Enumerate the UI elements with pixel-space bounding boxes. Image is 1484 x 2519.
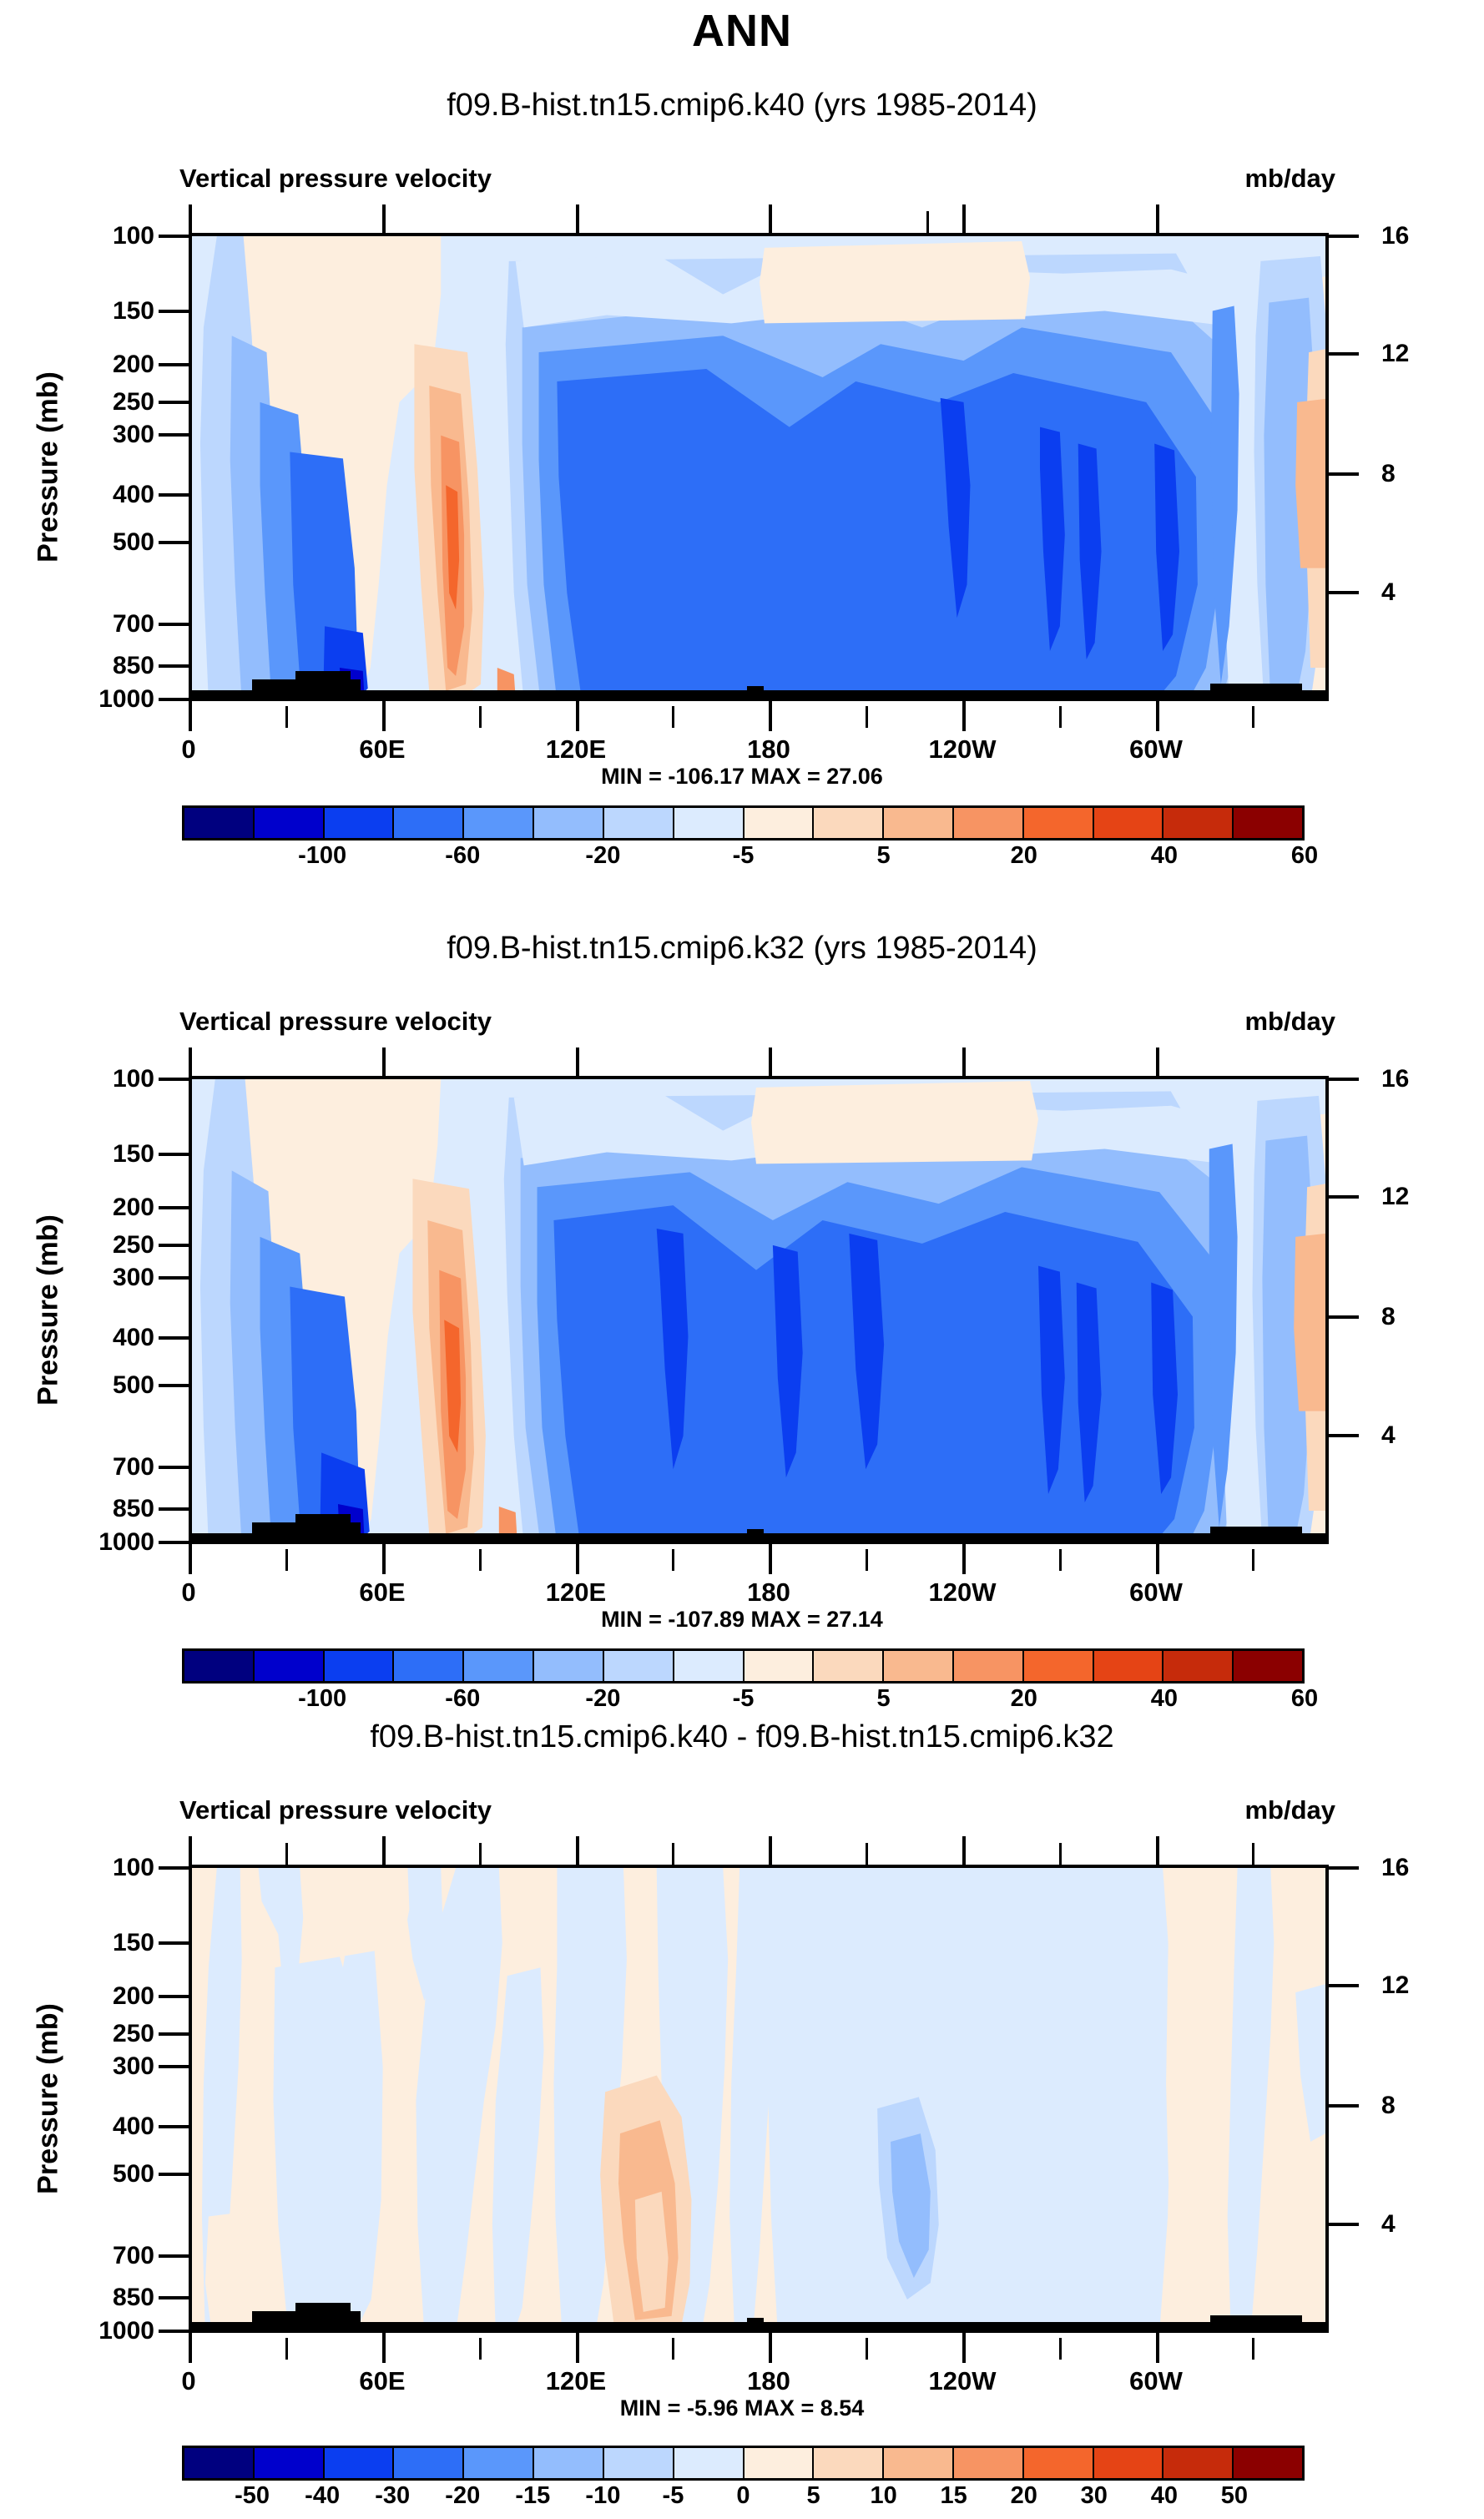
pressure-tick-label: 1000	[98, 685, 154, 714]
panel-1-colorbar-strip	[182, 805, 1305, 841]
height-tick-label: 8	[1381, 2092, 1396, 2120]
colorbar-cell	[674, 1651, 745, 1681]
height-tick-label: 12	[1381, 1183, 1409, 1211]
colorbar-tick-label: -15	[515, 2482, 550, 2510]
colorbar-tick-label: 0	[736, 2482, 750, 2510]
colorbar-cell	[604, 1651, 674, 1681]
panel-2-colorbar-labels: -100 -60 -20 -5 5 20 40 60	[182, 1684, 1305, 1722]
longitude-tick-label: 180	[747, 2366, 790, 2396]
pressure-tick-label: 700	[113, 610, 154, 639]
colorbar-cell	[464, 808, 534, 838]
longitude-tick-label: 60E	[359, 1578, 405, 1608]
figure-root: ANN f09.B-hist.tn15.cmip6.k40 (yrs 1985-…	[0, 0, 1484, 2482]
height-tick-label: 16	[1381, 222, 1409, 250]
colorbar-cell	[1024, 808, 1094, 838]
panel-2-topography-peak	[747, 1529, 764, 1541]
colorbar-tick-label: 20	[1011, 2482, 1037, 2510]
pressure-tick-label: 250	[113, 1231, 154, 1259]
pressure-tick-label: 1000	[98, 1528, 154, 1557]
pressure-tick-label: 500	[113, 2160, 154, 2188]
colorbar-tick-label: -50	[235, 2482, 270, 2510]
colorbar-cell	[1234, 2448, 1302, 2478]
longitude-tick-label: 180	[747, 1578, 790, 1608]
longitude-tick-label: 60W	[1129, 2366, 1183, 2396]
height-tick-label: 12	[1381, 340, 1409, 368]
panel-3-colorbar-labels: -50 -40 -30 -20 -15 -10 -5 0 5 10 15 20 …	[182, 2481, 1305, 2519]
colorbar-cell	[1234, 1651, 1302, 1681]
colorbar-cell	[954, 2448, 1024, 2478]
colorbar-cell	[954, 1651, 1024, 1681]
pressure-tick-label: 250	[113, 2020, 154, 2048]
pressure-tick-label: 150	[113, 1140, 154, 1169]
pressure-tick-label: 700	[113, 2242, 154, 2270]
panel-1-title: f09.B-hist.tn15.cmip6.k40 (yrs 1985-2014…	[0, 88, 1484, 124]
colorbar-tick-label: -5	[663, 2482, 684, 2510]
panel-2-pressure-axis-title: Pressure (mb)	[33, 1177, 65, 1444]
colorbar-tick-label: 15	[941, 2482, 967, 2510]
colorbar-cell	[814, 808, 884, 838]
colorbar-cell	[674, 2448, 745, 2478]
colorbar-cell	[325, 2448, 395, 2478]
panel-1-topography-peak	[747, 686, 764, 698]
panel-3-contour-field	[192, 1868, 1325, 2333]
longitude-tick-label: 60E	[359, 734, 405, 765]
pressure-tick-label: 500	[113, 1371, 154, 1400]
colorbar-cell	[745, 2448, 815, 2478]
longitude-tick-label: 120E	[546, 2366, 606, 2396]
panel-1-units-label: mb/day	[1244, 164, 1335, 194]
colorbar-cell	[674, 808, 745, 838]
colorbar-cell	[325, 1651, 395, 1681]
colorbar-cell	[325, 808, 395, 838]
longitude-tick-label: 120E	[546, 734, 606, 765]
colorbar-cell	[604, 808, 674, 838]
panel-2-plot-area[interactable]	[189, 1076, 1329, 1544]
pressure-tick-label: 300	[113, 2052, 154, 2081]
height-tick-label: 8	[1381, 1303, 1396, 1331]
height-tick-label: 4	[1381, 2210, 1396, 2239]
pressure-tick-label: 200	[113, 1194, 154, 1222]
panel-1-plot-area[interactable]	[189, 233, 1329, 701]
colorbar-tick-label: 50	[1221, 2482, 1248, 2510]
colorbar-cell	[1163, 1651, 1234, 1681]
pressure-tick-label: 400	[113, 481, 154, 509]
height-tick-label: 12	[1381, 1971, 1409, 2000]
colorbar-tick-label: -40	[305, 2482, 340, 2510]
colorbar-cell	[884, 1651, 954, 1681]
panel-1-colorbar[interactable]: -100 -60 -20 -5 5 20 40 60	[182, 805, 1305, 879]
panel-1-topography-peak	[295, 671, 351, 698]
colorbar-cell	[255, 1651, 325, 1681]
colorbar-tick-label: -60	[445, 1685, 480, 1713]
panel-3-units-label: mb/day	[1244, 1795, 1335, 1825]
pressure-tick-label: 100	[113, 1065, 154, 1093]
longitude-tick-label: 60W	[1129, 734, 1183, 765]
panel-3-title: f09.B-hist.tn15.cmip6.k40 - f09.B-hist.t…	[0, 1719, 1484, 1755]
panel-2-variable-label: Vertical pressure velocity	[179, 1007, 492, 1037]
panel-1-pressure-axis-title: Pressure (mb)	[33, 334, 65, 601]
colorbar-tick-label: 40	[1151, 2482, 1178, 2510]
colorbar-tick-label: -20	[585, 1685, 620, 1713]
height-tick-label: 8	[1381, 460, 1396, 488]
pressure-tick-label: 200	[113, 351, 154, 379]
panel-3-pressure-axis-title: Pressure (mb)	[33, 1966, 65, 2233]
colorbar-tick-label: -20	[585, 842, 620, 870]
colorbar-cell	[1163, 2448, 1234, 2478]
longitude-tick-label: 0	[181, 1578, 195, 1608]
pressure-tick-label: 850	[113, 1495, 154, 1523]
panel-2-colorbar[interactable]: -100 -60 -20 -5 5 20 40 60	[182, 1648, 1305, 1722]
colorbar-tick-label: 20	[1011, 1685, 1037, 1713]
longitude-tick-label: 120W	[929, 2366, 997, 2396]
colorbar-cell	[814, 1651, 884, 1681]
panel-2-topography-peak	[295, 1514, 351, 1541]
pressure-tick-label: 150	[113, 1929, 154, 1957]
colorbar-cell	[464, 1651, 534, 1681]
pressure-tick-label: 850	[113, 652, 154, 680]
panel-2-colorbar-strip	[182, 1648, 1305, 1684]
colorbar-cell	[534, 1651, 604, 1681]
colorbar-cell	[1094, 2448, 1164, 2478]
panel-1-minmax: MIN = -106.17 MAX = 27.06	[0, 764, 1484, 790]
colorbar-tick-label: 5	[806, 2482, 820, 2510]
colorbar-cell	[184, 808, 255, 838]
panel-3-plot-area[interactable]	[189, 1865, 1329, 2333]
panel-3-colorbar-strip	[182, 2446, 1305, 2481]
colorbar-tick-label: -100	[298, 842, 346, 870]
colorbar-tick-label: -60	[445, 842, 480, 870]
panel-2-title: f09.B-hist.tn15.cmip6.k32 (yrs 1985-2014…	[0, 931, 1484, 967]
height-tick-label: 16	[1381, 1065, 1409, 1093]
colorbar-tick-label: -20	[445, 2482, 480, 2510]
pressure-tick-label: 500	[113, 528, 154, 557]
colorbar-tick-label: 40	[1151, 1685, 1178, 1713]
colorbar-tick-label: 40	[1151, 842, 1178, 870]
colorbar-tick-label: -5	[733, 1685, 755, 1713]
colorbar-cell	[1094, 808, 1164, 838]
pressure-tick-label: 250	[113, 388, 154, 416]
pressure-tick-label: 150	[113, 297, 154, 326]
pressure-tick-label: 1000	[98, 2317, 154, 2345]
colorbar-cell	[1024, 1651, 1094, 1681]
colorbar-cell	[184, 1651, 255, 1681]
longitude-tick-label: 0	[181, 734, 195, 765]
colorbar-tick-label: 60	[1291, 842, 1318, 870]
colorbar-tick-label: -30	[375, 2482, 410, 2510]
colorbar-cell	[255, 2448, 325, 2478]
colorbar-tick-label: 20	[1011, 842, 1037, 870]
panel-3-topography-peak	[295, 2303, 351, 2330]
panel-1-topography-peak	[1210, 684, 1302, 698]
colorbar-tick-label: 60	[1291, 1685, 1318, 1713]
panel-3-topography-peak	[747, 2318, 764, 2330]
pressure-tick-label: 300	[113, 1264, 154, 1292]
panel-2-topography-peak	[1210, 1527, 1302, 1541]
pressure-tick-label: 400	[113, 2113, 154, 2141]
colorbar-cell	[1234, 808, 1302, 838]
colorbar-cell	[534, 808, 604, 838]
colorbar-tick-label: 30	[1081, 2482, 1108, 2510]
panel-3-topography-peak	[1210, 2315, 1302, 2330]
colorbar-cell	[394, 808, 464, 838]
colorbar-cell	[814, 2448, 884, 2478]
pressure-tick-label: 300	[113, 421, 154, 449]
pressure-tick-label: 400	[113, 1324, 154, 1352]
height-tick-label: 4	[1381, 1421, 1396, 1450]
longitude-tick-label: 0	[181, 2366, 195, 2396]
colorbar-cell	[534, 2448, 604, 2478]
colorbar-cell	[745, 1651, 815, 1681]
longitude-tick-label: 120W	[929, 1578, 997, 1608]
colorbar-cell	[604, 2448, 674, 2478]
panel-3-minmax: MIN = -5.96 MAX = 8.54	[0, 2395, 1484, 2421]
longitude-tick-label: 60W	[1129, 1578, 1183, 1608]
colorbar-tick-label: 10	[870, 2482, 896, 2510]
panel-1-contour-field	[192, 236, 1325, 701]
pressure-tick-label: 100	[113, 222, 154, 250]
colorbar-tick-label: 5	[877, 1685, 891, 1713]
colorbar-cell	[954, 808, 1024, 838]
colorbar-tick-label: -10	[585, 2482, 620, 2510]
page-title: ANN	[0, 5, 1484, 57]
colorbar-cell	[745, 808, 815, 838]
colorbar-tick-label: 5	[877, 842, 891, 870]
longitude-tick-label: 120E	[546, 1578, 606, 1608]
colorbar-cell	[464, 2448, 534, 2478]
longitude-tick-label: 180	[747, 734, 790, 765]
pressure-tick-label: 100	[113, 1854, 154, 1882]
colorbar-cell	[184, 2448, 255, 2478]
pressure-tick-label: 200	[113, 1982, 154, 2011]
pressure-tick-label: 700	[113, 1453, 154, 1482]
panel-2-minmax: MIN = -107.89 MAX = 27.14	[0, 1607, 1484, 1633]
colorbar-cell	[884, 2448, 954, 2478]
height-tick-label: 4	[1381, 578, 1396, 607]
panel-1-variable-label: Vertical pressure velocity	[179, 164, 492, 194]
colorbar-cell	[255, 808, 325, 838]
colorbar-tick-label: -100	[298, 1685, 346, 1713]
colorbar-tick-label: -5	[733, 842, 755, 870]
colorbar-cell	[394, 2448, 464, 2478]
panel-3-variable-label: Vertical pressure velocity	[179, 1795, 492, 1825]
colorbar-cell	[1163, 808, 1234, 838]
colorbar-cell	[1094, 1651, 1164, 1681]
longitude-tick-label: 60E	[359, 2366, 405, 2396]
colorbar-cell	[1024, 2448, 1094, 2478]
height-tick-label: 16	[1381, 1854, 1409, 1882]
pressure-tick-label: 850	[113, 2284, 154, 2312]
colorbar-cell	[884, 808, 954, 838]
panel-2-units-label: mb/day	[1244, 1007, 1335, 1037]
panel-2-contour-field	[192, 1079, 1325, 1544]
panel-1-colorbar-labels: -100 -60 -20 -5 5 20 40 60	[182, 841, 1305, 879]
longitude-tick-label: 120W	[929, 734, 997, 765]
colorbar-cell	[394, 1651, 464, 1681]
panel-3-colorbar[interactable]: -50 -40 -30 -20 -15 -10 -5 0 5 10 15 20 …	[182, 2446, 1305, 2519]
